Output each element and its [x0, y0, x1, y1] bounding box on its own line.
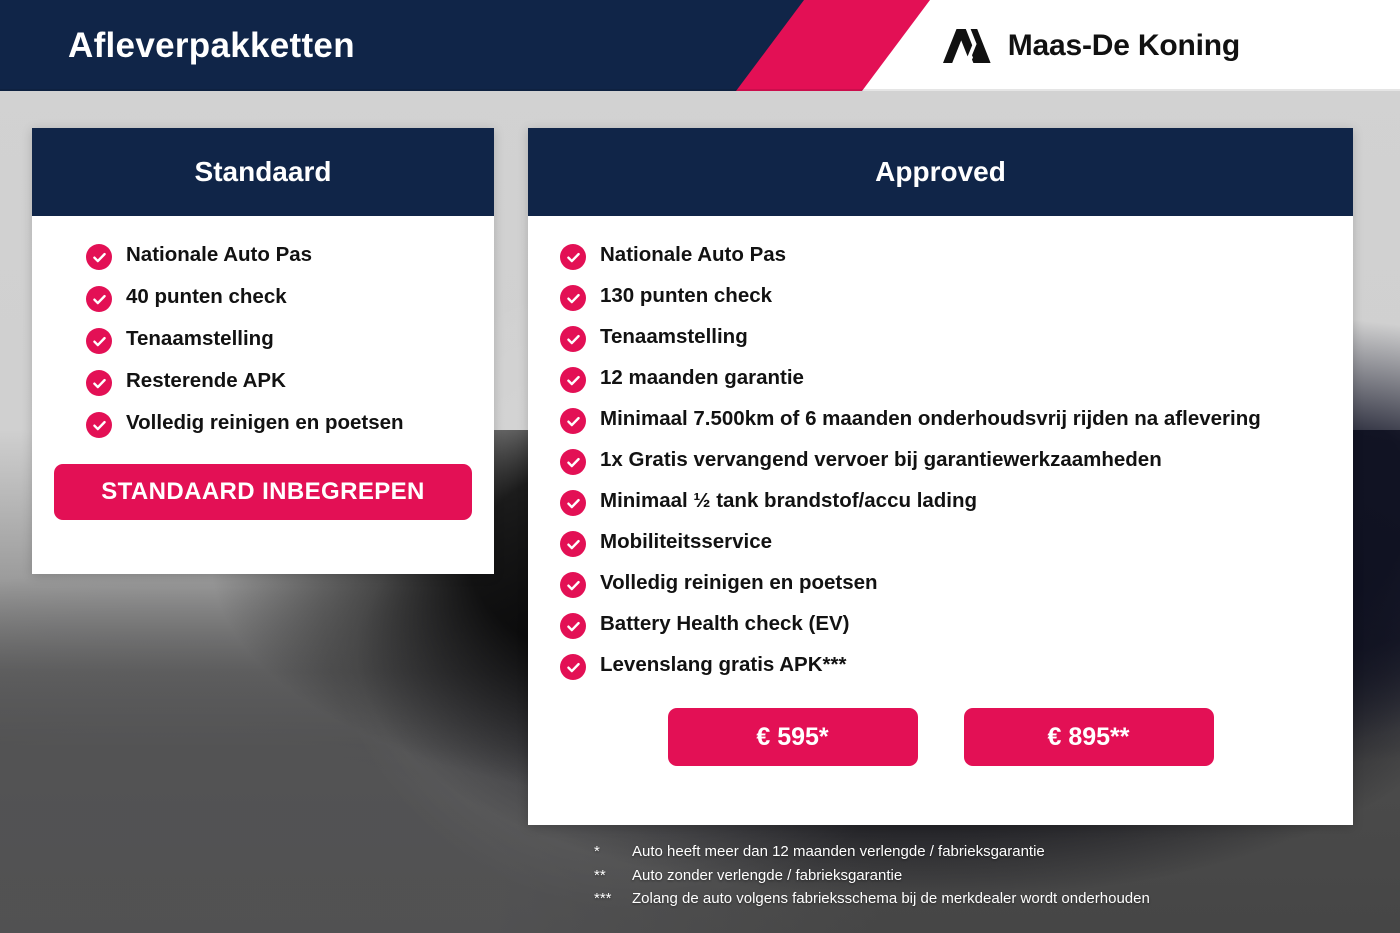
feature-item: Minimaal 7.500km of 6 maanden onderhouds…	[560, 406, 1353, 434]
check-circle-icon	[560, 367, 586, 393]
package-card-standaard: Standaard Nationale Auto Pas40 punten ch…	[32, 128, 494, 574]
check-circle-icon	[560, 654, 586, 680]
feature-item: Tenaamstelling	[560, 324, 1353, 352]
feature-item: Resterende APK	[86, 368, 494, 396]
footnote: ***Zolang de auto volgens fabrieksschema…	[594, 887, 1354, 911]
price-button-2[interactable]: € 895**	[964, 708, 1214, 766]
package-title-standaard: Standaard	[32, 128, 494, 216]
price-button-1[interactable]: € 595*	[668, 708, 918, 766]
feature-label: Minimaal ½ tank brandstof/accu lading	[600, 488, 977, 514]
feature-label: Battery Health check (EV)	[600, 611, 850, 637]
feature-label: Mobiliteitsservice	[600, 529, 772, 555]
feature-label: 12 maanden garantie	[600, 365, 804, 391]
footnote: *Auto heeft meer dan 12 maanden verlengd…	[594, 840, 1354, 864]
feature-label: 1x Gratis vervangend vervoer bij garanti…	[600, 447, 1162, 473]
feature-label: Volledig reinigen en poetsen	[600, 570, 878, 596]
standaard-inbegrepen-button[interactable]: STANDAARD INBEGREPEN	[54, 464, 472, 520]
check-circle-icon	[560, 285, 586, 311]
feature-label: 130 punten check	[600, 283, 772, 309]
feature-list-standaard: Nationale Auto Pas40 punten checkTenaams…	[86, 242, 494, 438]
price-button-row: € 595*€ 895**	[528, 708, 1353, 766]
footnote-marker: **	[594, 864, 632, 888]
feature-label: Levenslang gratis APK***	[600, 652, 846, 678]
package-body-standaard: Nationale Auto Pas40 punten checkTenaams…	[32, 216, 494, 574]
check-circle-icon	[560, 572, 586, 598]
package-card-approved: Approved Nationale Auto Pas130 punten ch…	[528, 128, 1353, 825]
feature-item: 40 punten check	[86, 284, 494, 312]
feature-item: Volledig reinigen en poetsen	[86, 410, 494, 438]
check-circle-icon	[560, 244, 586, 270]
feature-label: 40 punten check	[126, 284, 287, 310]
feature-item: 1x Gratis vervangend vervoer bij garanti…	[560, 447, 1353, 475]
feature-item: Volledig reinigen en poetsen	[560, 570, 1353, 598]
footnote-marker: *	[594, 840, 632, 864]
feature-label: Tenaamstelling	[126, 326, 274, 352]
check-circle-icon	[560, 408, 586, 434]
feature-label: Tenaamstelling	[600, 324, 748, 350]
footnote-text: Auto zonder verlengde / fabrieksgarantie	[632, 864, 1354, 888]
check-circle-icon	[560, 613, 586, 639]
feature-label: Nationale Auto Pas	[600, 242, 786, 268]
feature-item: Nationale Auto Pas	[86, 242, 494, 270]
feature-label: Minimaal 7.500km of 6 maanden onderhouds…	[600, 406, 1261, 432]
feature-item: Levenslang gratis APK***	[560, 652, 1353, 680]
footnote: **Auto zonder verlengde / fabrieksgarant…	[594, 864, 1354, 888]
feature-item: Minimaal ½ tank brandstof/accu lading	[560, 488, 1353, 516]
feature-item: 130 punten check	[560, 283, 1353, 311]
check-circle-icon	[86, 244, 112, 270]
package-body-approved: Nationale Auto Pas130 punten checkTenaam…	[528, 216, 1353, 825]
feature-item: Mobiliteitsservice	[560, 529, 1353, 557]
footnote-marker: ***	[594, 887, 632, 911]
check-circle-icon	[86, 328, 112, 354]
check-circle-icon	[86, 412, 112, 438]
check-circle-icon	[560, 449, 586, 475]
footnote-text: Auto heeft meer dan 12 maanden verlengde…	[632, 840, 1354, 864]
feature-label: Volledig reinigen en poetsen	[126, 410, 404, 436]
footnote-text: Zolang de auto volgens fabrieksschema bi…	[632, 887, 1354, 911]
feature-label: Resterende APK	[126, 368, 286, 394]
check-circle-icon	[86, 286, 112, 312]
feature-list-approved: Nationale Auto Pas130 punten checkTenaam…	[560, 242, 1353, 680]
check-circle-icon	[560, 490, 586, 516]
check-circle-icon	[560, 326, 586, 352]
footnote-list: *Auto heeft meer dan 12 maanden verlengd…	[594, 840, 1354, 911]
feature-item: Nationale Auto Pas	[560, 242, 1353, 270]
feature-item: 12 maanden garantie	[560, 365, 1353, 393]
check-circle-icon	[86, 370, 112, 396]
feature-label: Nationale Auto Pas	[126, 242, 312, 268]
package-title-approved: Approved	[528, 128, 1353, 216]
feature-item: Battery Health check (EV)	[560, 611, 1353, 639]
feature-item: Tenaamstelling	[86, 326, 494, 354]
check-circle-icon	[560, 531, 586, 557]
